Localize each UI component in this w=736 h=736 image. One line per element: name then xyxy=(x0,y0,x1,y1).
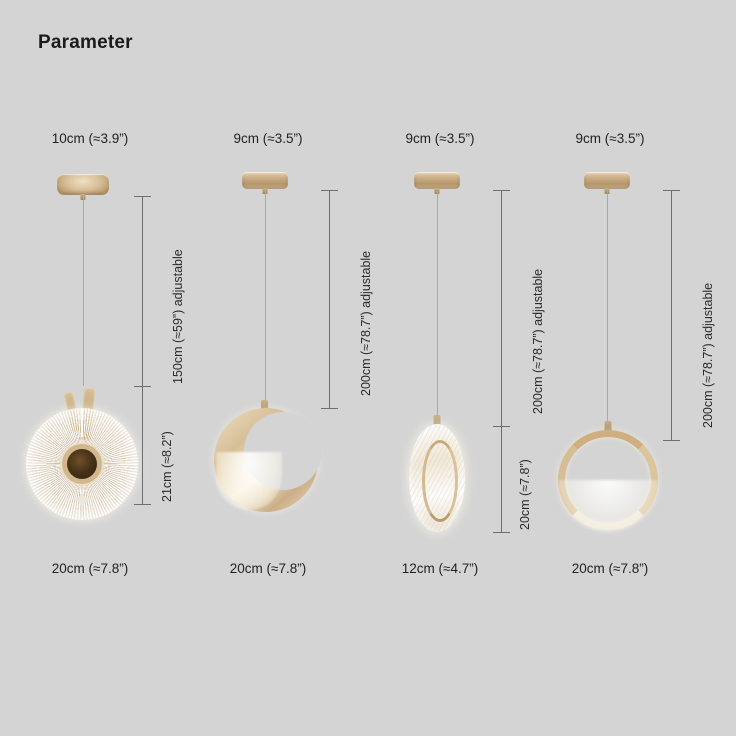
open-ring-fixture xyxy=(558,430,658,530)
drop-dimension-line xyxy=(329,190,330,408)
canopy-disc xyxy=(414,172,460,189)
crystal-oval-fixture xyxy=(409,424,465,532)
drop-dimension-line xyxy=(142,196,143,386)
fixture-width-label: 20cm (≈7.8”) xyxy=(520,561,700,576)
drop-dimension-cap-top xyxy=(134,196,151,197)
fixture-width-label: 20cm (≈7.8”) xyxy=(0,561,180,576)
canopy-disc xyxy=(242,172,288,189)
drop-dimension-cap-top xyxy=(493,190,510,191)
suspension-wire xyxy=(437,190,438,426)
product-column-crystal-oval-pendant: 9cm (≈3.5”) 12cm (≈4.7”) 200cm (≈78.7”) … xyxy=(350,0,530,736)
height-dimension-cap-bottom xyxy=(134,504,151,505)
canopy-size-label: 9cm (≈3.5”) xyxy=(350,131,530,146)
height-dimension-line xyxy=(501,426,502,532)
suspension-wire xyxy=(607,190,608,430)
canopy-size-label: 9cm (≈3.5”) xyxy=(178,131,358,146)
ceiling-canopy xyxy=(57,174,109,195)
canopy-disc xyxy=(57,174,109,195)
crescent-moon-fixture xyxy=(214,408,318,512)
drop-dimension-cap-bottom xyxy=(321,408,338,409)
shell-hub xyxy=(67,449,97,479)
ceiling-canopy xyxy=(584,172,630,189)
height-dimension-cap-bottom xyxy=(493,532,510,533)
suspension-wire xyxy=(265,190,266,408)
height-dimension-line xyxy=(142,386,143,504)
canopy-disc xyxy=(584,172,630,189)
height-dimension-label: 21cm (≈8.2”) xyxy=(160,431,174,502)
ceiling-canopy xyxy=(414,172,460,189)
fixture-width-label: 12cm (≈4.7”) xyxy=(350,561,530,576)
product-column-crescent-moon-pendant: 9cm (≈3.5”) 20cm (≈7.8”) 200cm (≈78.7”) … xyxy=(178,0,358,736)
suspension-wire xyxy=(83,196,84,386)
product-column-shell-pendant: 10cm (≈3.9”) 20cm (≈7.8”) 150cm (≈59”) a… xyxy=(0,0,180,736)
canopy-size-label: 9cm (≈3.5”) xyxy=(520,131,700,146)
fixture-width-label: 20cm (≈7.8”) xyxy=(178,561,358,576)
product-column-open-ring-pendant: 9cm (≈3.5”) 20cm (≈7.8”) 200cm (≈78.7”) … xyxy=(520,0,700,736)
oval-inner-ring xyxy=(422,440,458,522)
ring-glow xyxy=(558,480,658,532)
drop-dimension-line xyxy=(501,190,502,426)
ceiling-canopy xyxy=(242,172,288,189)
drop-dimension-cap-top xyxy=(663,190,680,191)
drop-dimension-line xyxy=(671,190,672,440)
drop-dimension-cap-bottom xyxy=(663,440,680,441)
canopy-size-label: 10cm (≈3.9”) xyxy=(0,131,180,146)
drop-dimension-cap-top xyxy=(321,190,338,191)
drop-dimension-label: 200cm (≈78.7”) adjustable xyxy=(701,283,715,428)
